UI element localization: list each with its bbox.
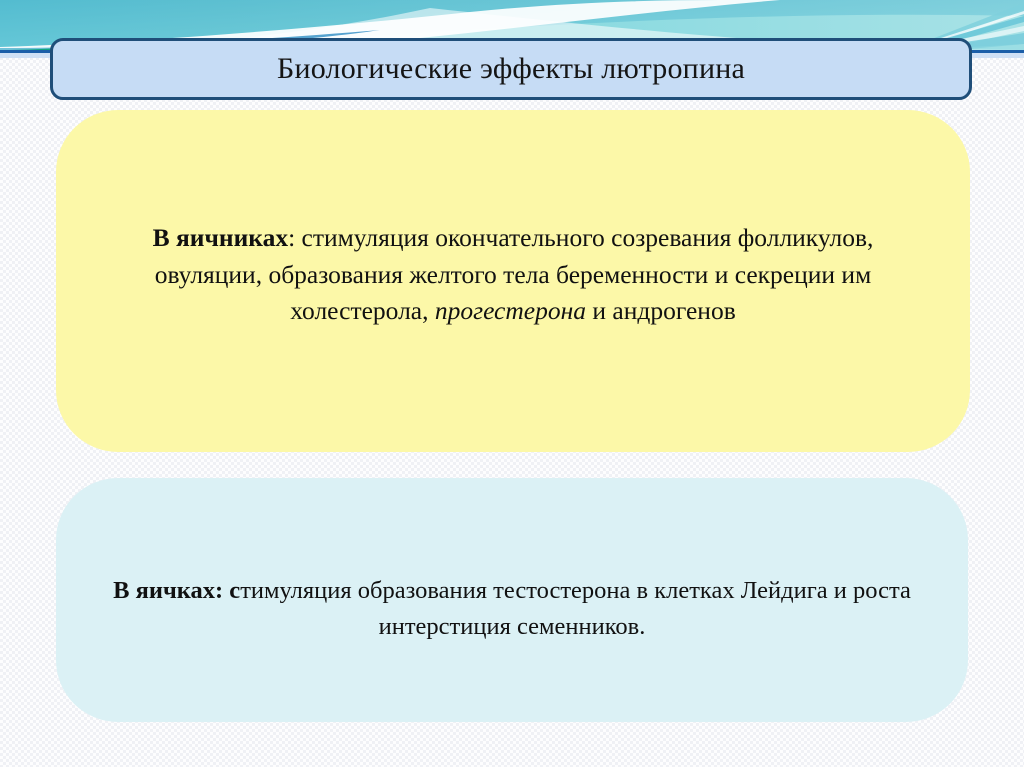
ovaries-emphasis-progesterone: прогестерона [435,296,586,325]
testes-body-1: тимуляция образования тестостерона в кле… [240,577,911,640]
slide-title-box: Биологические эффекты лютропина [50,38,972,100]
ovaries-effects-text: В яичниках: стимуляция окончательного со… [56,220,970,330]
page-title: Биологические эффекты лютропина [277,52,745,86]
slide-canvas: Биологические эффекты лютропина В яичник… [0,0,1024,767]
testes-label: В яичках: с [113,577,240,604]
ovaries-effects-card: В яичниках: стимуляция окончательного со… [56,110,970,452]
ovaries-body-2: и андрогенов [586,296,736,325]
testes-effects-text: В яичках: стимуляция образования тестост… [56,573,968,645]
testes-effects-card: В яичках: стимуляция образования тестост… [56,478,968,722]
ovaries-label: В яичниках [153,223,288,252]
